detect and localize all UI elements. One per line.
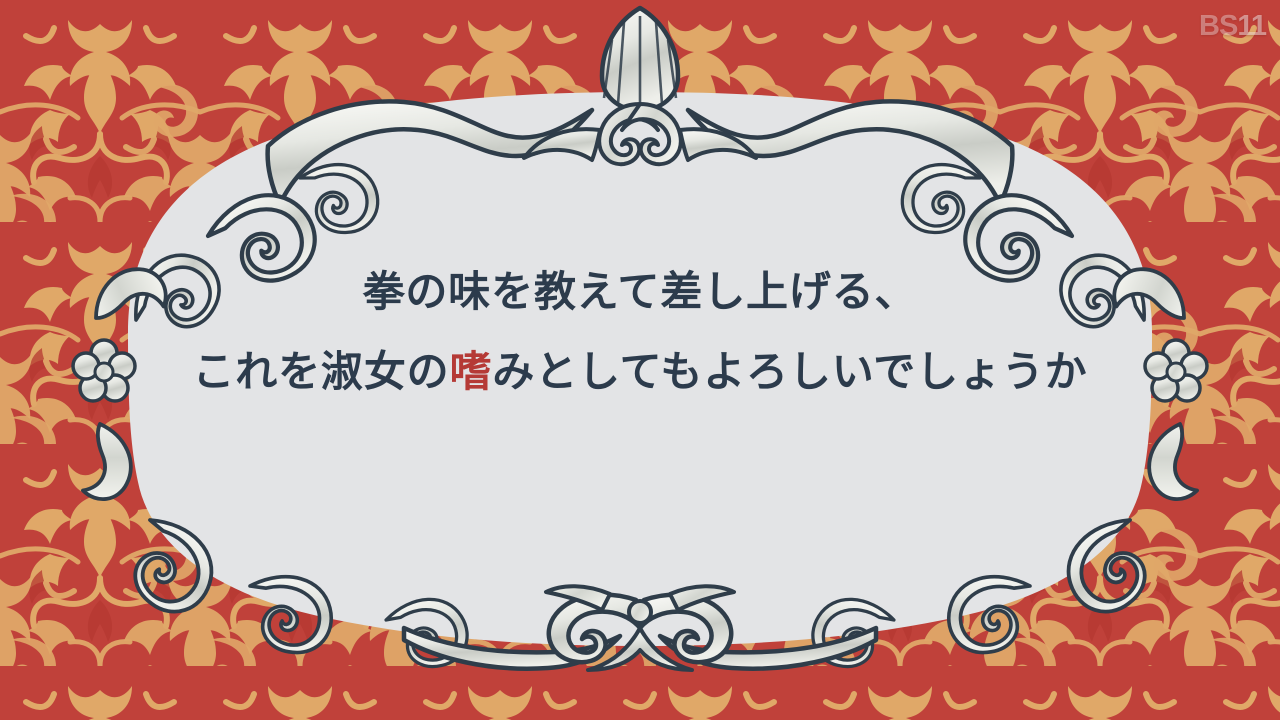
caption-line-2: これを淑女の嗜みとしてもよろしいでしょうか [0, 352, 1280, 394]
caption-line-2-after: みとしてもよろしいでしょうか [492, 350, 1087, 396]
eyecatch-card: 拳の味を教えて差し上げる、 これを淑女の嗜みとしてもよろしいでしょうか BS11 [0, 0, 1280, 720]
caption-line-1: 拳の味を教えて差し上げる、 [0, 272, 1280, 314]
caption-highlight-char: 嗜 [450, 350, 493, 396]
caption-line-2-before: これを淑女の [192, 350, 449, 396]
bs11-prefix: BS [1199, 10, 1237, 42]
bs11-channel-bug: BS11 [1199, 12, 1266, 41]
bs11-number: 11 [1237, 10, 1266, 42]
subtitle-caption: 拳の味を教えて差し上げる、 これを淑女の嗜みとしてもよろしいでしょうか [0, 272, 1280, 394]
